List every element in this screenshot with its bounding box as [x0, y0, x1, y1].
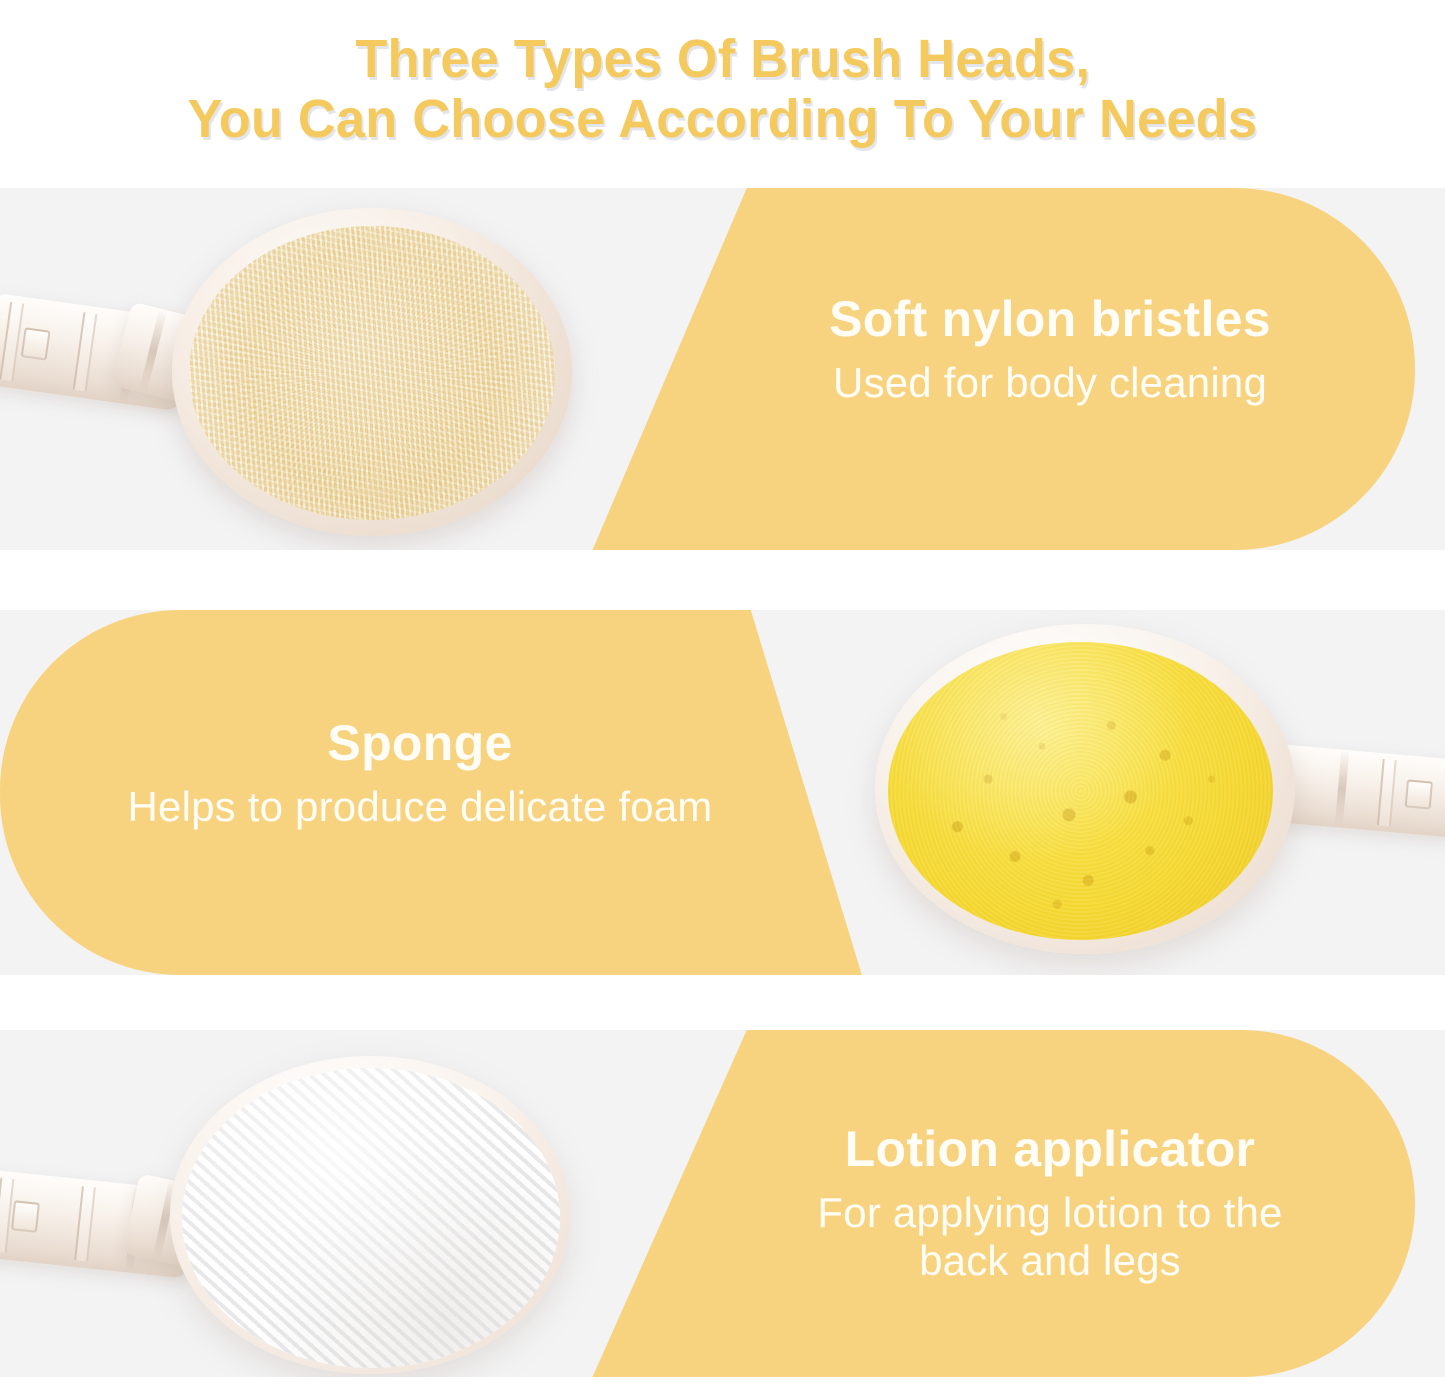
- feature-panel-sponge: Sponge Helps to produce delicate foam: [0, 610, 1445, 975]
- panel-subtitle: For applying lotion to the back and legs: [790, 1189, 1310, 1286]
- panel-subtitle: Helps to produce delicate foam: [40, 783, 800, 831]
- panel-subtitle: Used for body cleaning: [700, 359, 1400, 407]
- panel-title: Lotion applicator: [700, 1122, 1400, 1177]
- panel-title: Sponge: [40, 716, 800, 771]
- panel-text-soft-nylon-bristles: Soft nylon bristles Used for body cleani…: [700, 292, 1400, 407]
- lotion-pad: [182, 1068, 560, 1368]
- sponge-pad: [888, 642, 1273, 940]
- nylon-bristles: [189, 226, 555, 520]
- feature-panel-soft-nylon-bristles: Soft nylon bristles Used for body cleani…: [0, 188, 1445, 550]
- panel-text-sponge: Sponge Helps to produce delicate foam: [40, 716, 800, 831]
- feature-panel-lotion-applicator: Lotion applicator For applying lotion to…: [0, 1030, 1445, 1377]
- heading-line-1: Three Types Of Brush Heads,: [355, 30, 1090, 88]
- page-heading: Three Types Of Brush Heads, You Can Choo…: [0, 0, 1445, 178]
- panel-text-lotion-applicator: Lotion applicator For applying lotion to…: [700, 1122, 1400, 1286]
- panel-title: Soft nylon bristles: [700, 292, 1400, 347]
- heading-line-2: You Can Choose According To Your Needs: [188, 90, 1258, 148]
